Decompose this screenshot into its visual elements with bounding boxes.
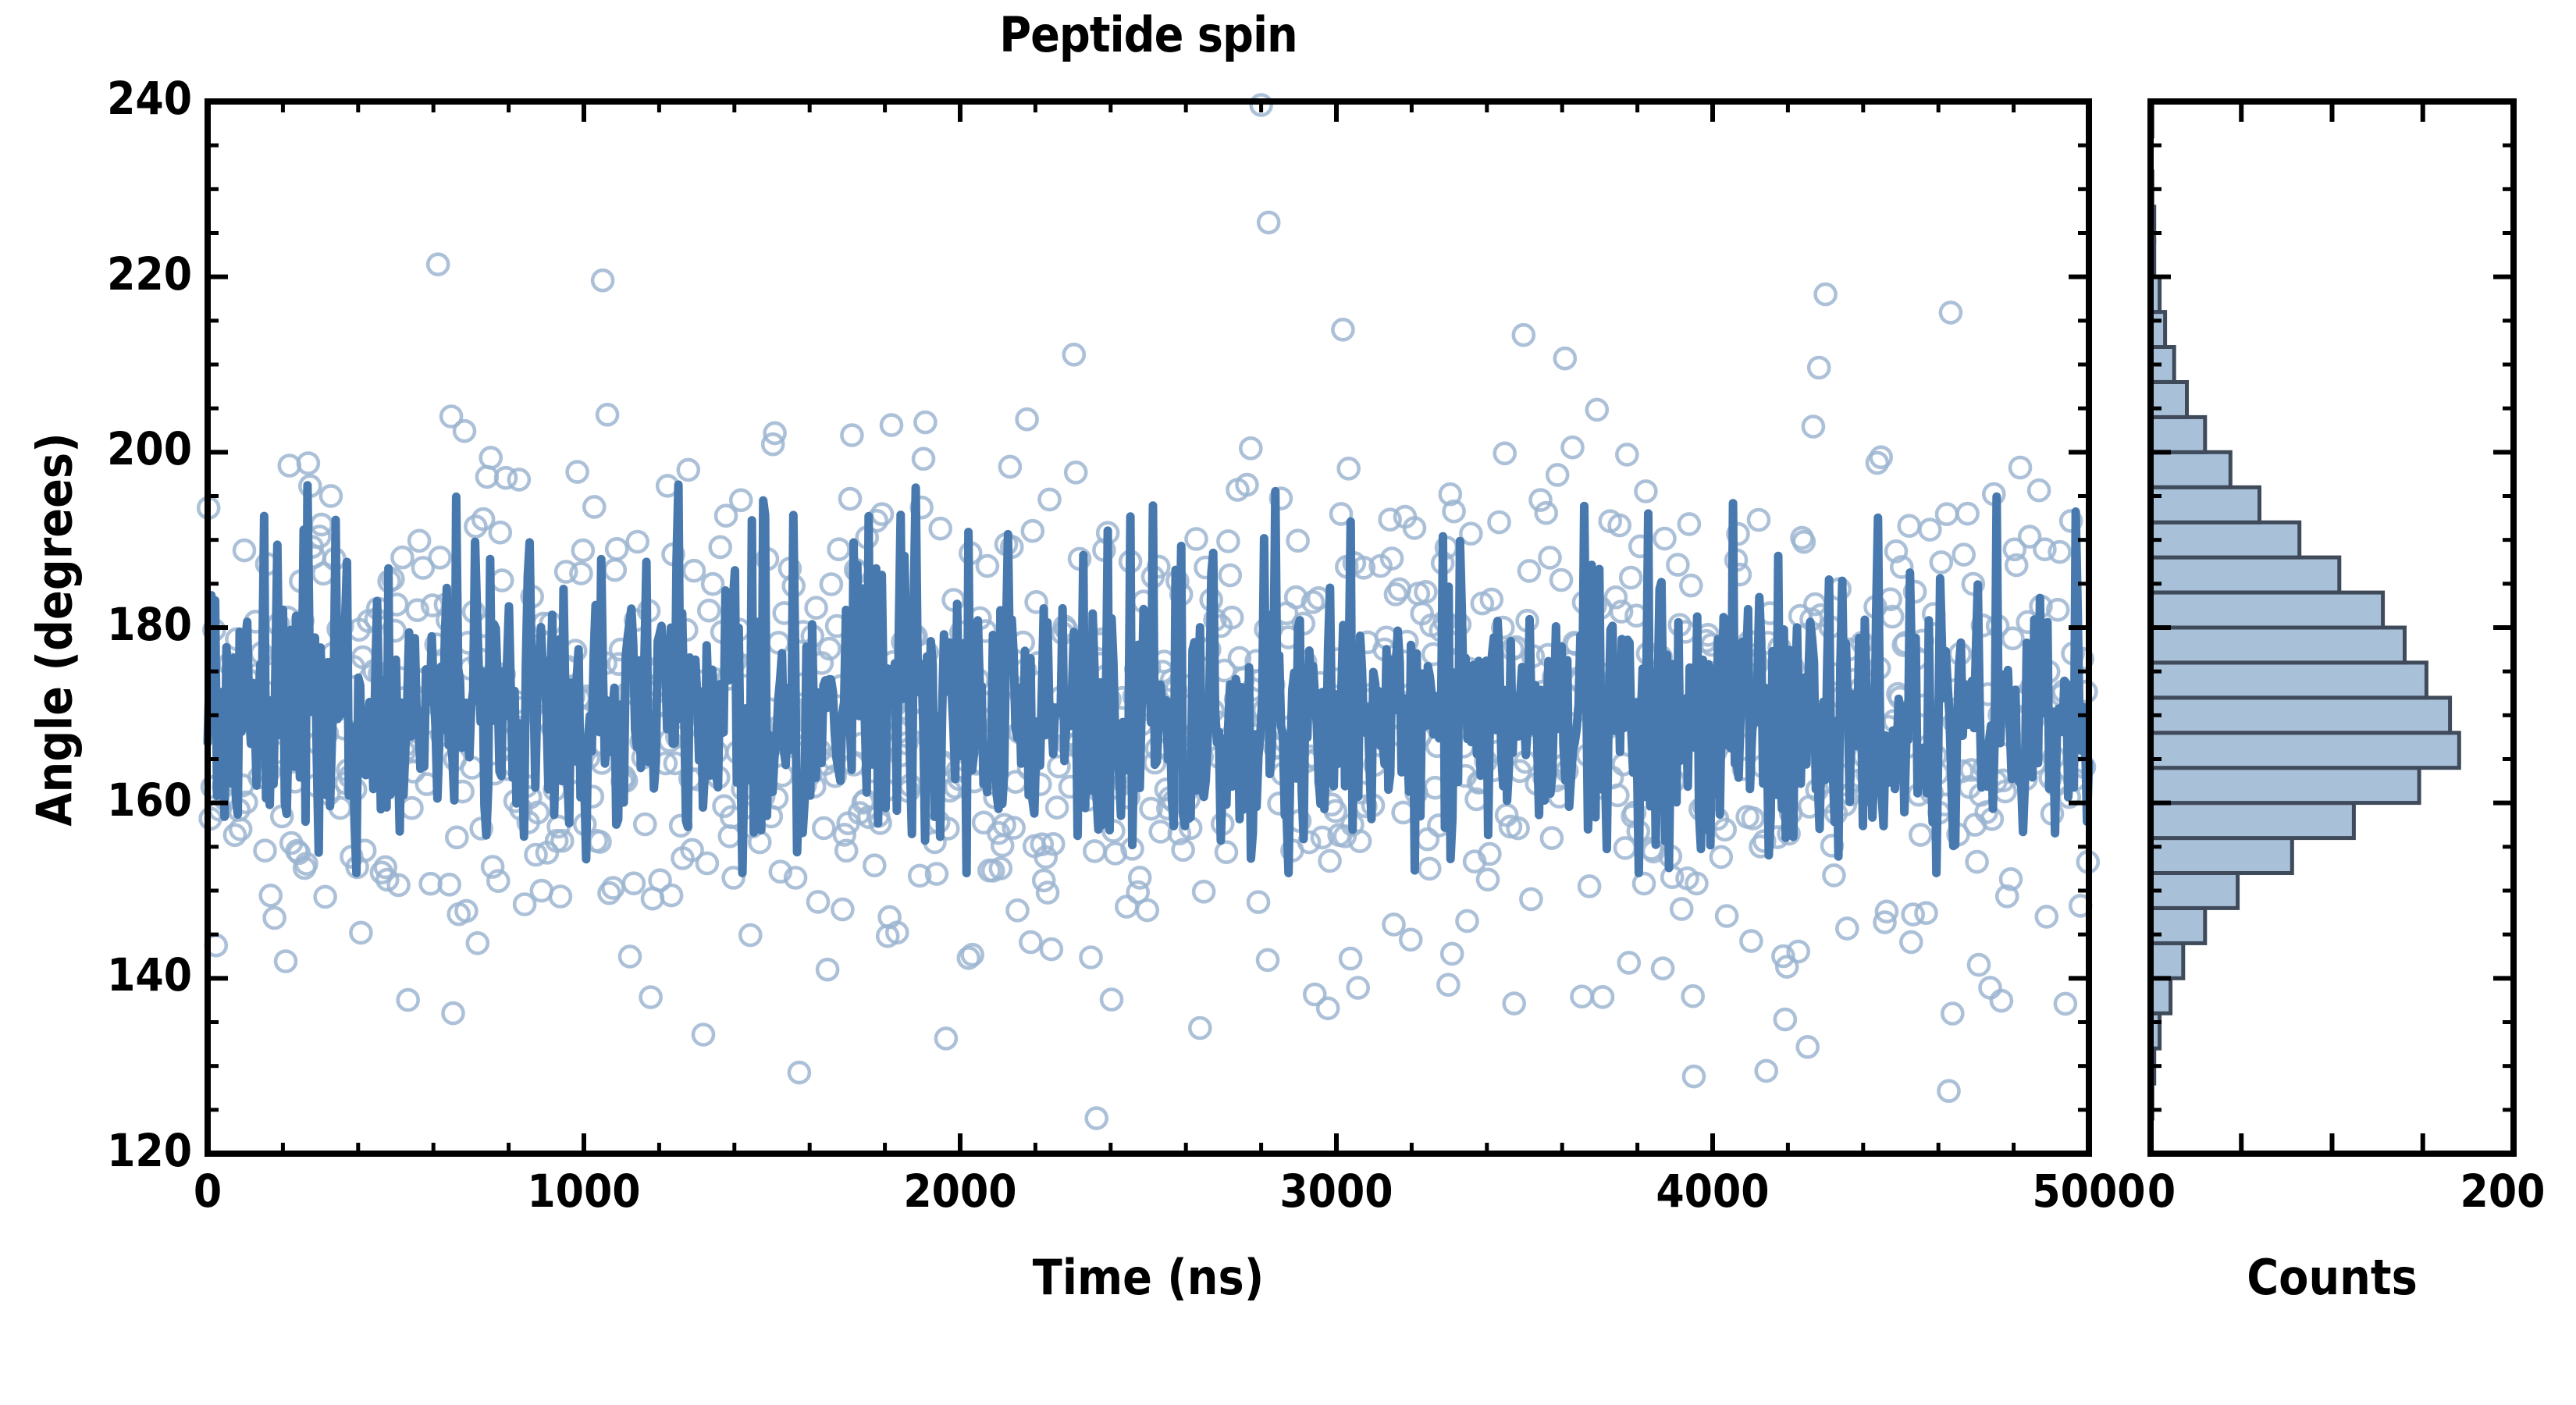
x-tick-label-0: 0: [91, 1165, 325, 1218]
y-tick-label-160: 160: [28, 774, 192, 827]
y-tick-label-180: 180: [28, 598, 192, 651]
y-tick-label-220: 220: [28, 247, 192, 301]
x-tick-label-1000: 1000: [467, 1165, 701, 1218]
y-tick-label-140: 140: [28, 948, 192, 1001]
histogram-x-tick-label-200: 200: [2386, 1165, 2576, 1218]
x-axis-label: Time (ns): [208, 1249, 2089, 1306]
y-tick-label-200: 200: [28, 422, 192, 475]
x-tick-label-4000: 4000: [1596, 1165, 1830, 1218]
page-title: Peptide spin: [208, 6, 2089, 63]
x-tick-label-2000: 2000: [843, 1165, 1077, 1218]
x-tick-label-3000: 3000: [1219, 1165, 1453, 1218]
y-tick-label-240: 240: [28, 72, 192, 125]
histogram-x-tick-label-0: 0: [2044, 1165, 2279, 1218]
histogram-x-axis-label: Counts: [2151, 1249, 2514, 1306]
